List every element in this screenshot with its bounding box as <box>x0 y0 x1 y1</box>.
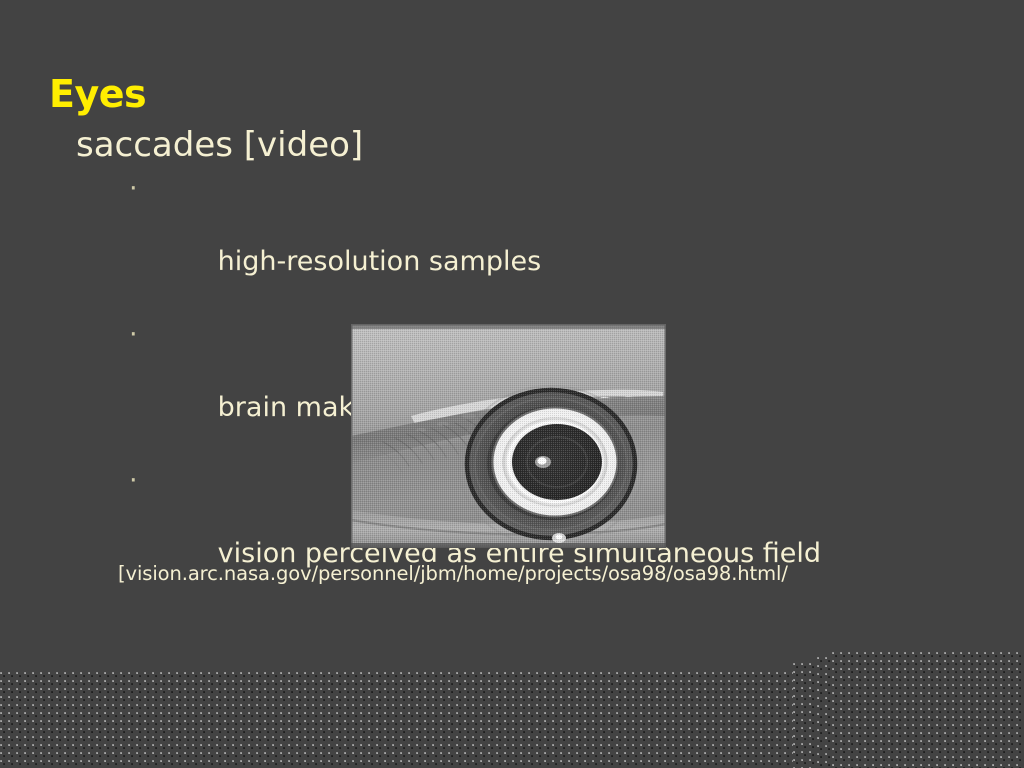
headline-text: saccades [video] <box>76 126 956 164</box>
footer-texture-step-two <box>817 657 832 768</box>
presentation-slide: Eyes saccades [video] · high-resolution … <box>0 0 1024 768</box>
footer-texture-band <box>0 672 793 768</box>
bullet-dot-icon: · <box>129 171 138 208</box>
list-item: · high-resolution samples <box>129 171 956 317</box>
eye-photo-image <box>351 324 666 548</box>
bullet-dot-icon: · <box>129 317 138 354</box>
page-title: Eyes <box>49 75 146 113</box>
list-item-label: high-resolution samples <box>218 246 541 277</box>
figure-caption-url: [vision.arc.nasa.gov/personnel/jbm/home/… <box>118 562 788 585</box>
footer-texture-step-one <box>793 663 817 768</box>
footer-texture-step-three <box>832 652 1024 768</box>
eye-photograph <box>351 324 666 548</box>
bullet-dot-icon: · <box>129 463 138 500</box>
